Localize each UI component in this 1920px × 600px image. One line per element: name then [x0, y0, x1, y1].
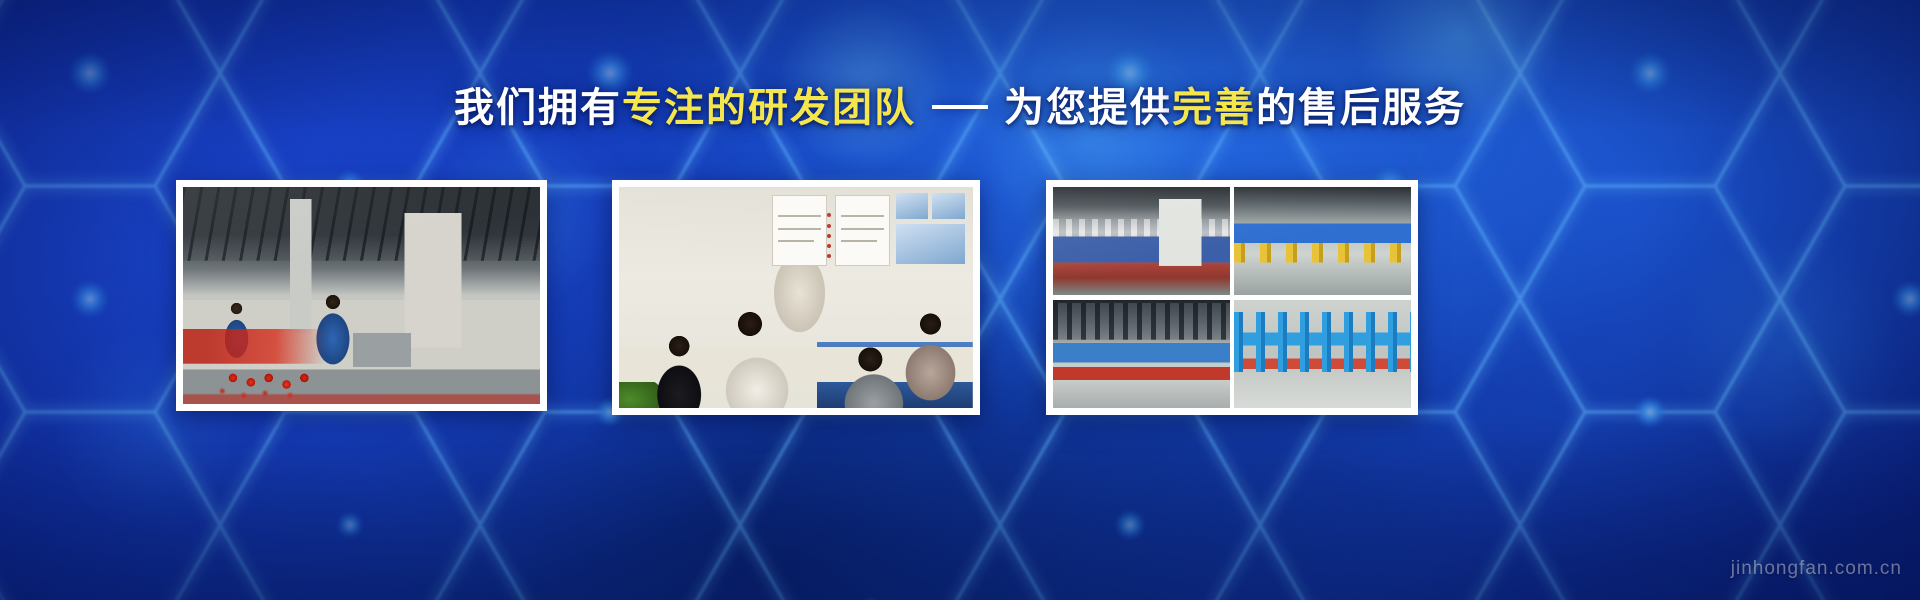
photo-customer-meeting — [619, 187, 973, 408]
equipment-collage-art — [1053, 187, 1411, 408]
headline-part-5: 的售后服务 — [1256, 86, 1466, 130]
promo-banner: 我们拥有专注的研发团队为您提供完善的售后服务 — [0, 0, 1920, 600]
headline-part-1: 我们拥有 — [454, 86, 622, 130]
collage-cell-top-left — [1053, 187, 1230, 295]
photo-panel-group — [0, 180, 1920, 420]
collage-cell-bottom-left — [1053, 300, 1230, 408]
photo-equipment-collage — [1053, 187, 1411, 408]
headline-dash-divider — [932, 105, 988, 109]
site-watermark: jinhongfan.com.cn — [1731, 558, 1902, 580]
headline-highlight-2: 完善 — [1172, 86, 1256, 130]
page-title: 我们拥有专注的研发团队为您提供完善的售后服务 — [0, 84, 1920, 132]
photo-production-workshop — [183, 187, 540, 404]
photo-panel-production-workshop[interactable] — [176, 180, 547, 411]
collage-cell-top-right — [1234, 187, 1411, 295]
workshop-scene-art — [183, 187, 540, 404]
collage-cell-bottom-right — [1234, 300, 1411, 408]
wall-posters-group — [768, 189, 971, 291]
meeting-scene-art — [619, 187, 973, 408]
photo-panel-equipment-collage[interactable] — [1046, 180, 1418, 415]
photo-panel-customer-meeting[interactable] — [612, 180, 980, 415]
headline-part-3: 为您提供 — [1004, 86, 1172, 130]
headline-highlight-1: 专注的研发团队 — [622, 86, 916, 130]
